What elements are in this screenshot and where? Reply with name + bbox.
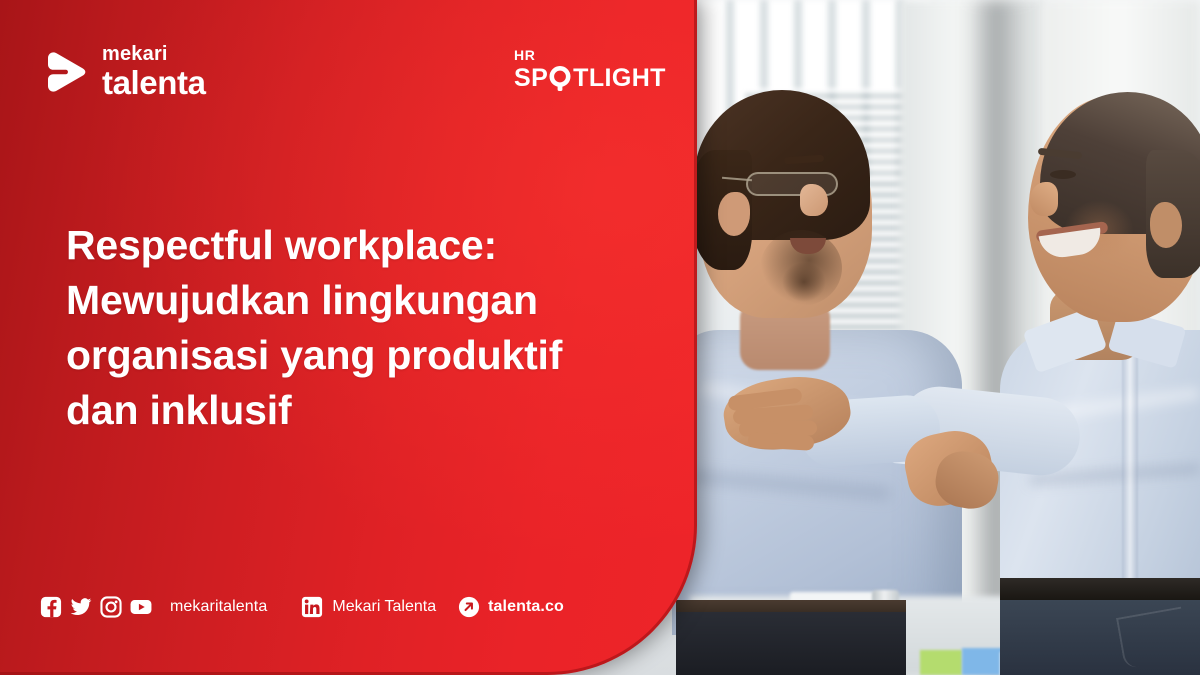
right-man-eye <box>1050 170 1076 179</box>
page-title: Respectful workplace: Mewujudkan lingkun… <box>66 218 636 438</box>
hr-spotlight-kicker: HR <box>514 48 535 62</box>
linkedin-icon[interactable] <box>301 596 323 618</box>
mekari-chevron-icon <box>44 49 88 95</box>
left-man-trousers <box>676 612 906 675</box>
spotlight-text-after: TLIGHT <box>573 66 666 91</box>
facebook-icon[interactable] <box>40 596 62 618</box>
website-url: talenta.co <box>488 598 564 616</box>
website-group[interactable]: talenta.co <box>458 596 564 618</box>
linkedin-group[interactable]: Mekari Talenta <box>301 596 436 618</box>
left-man-chin <box>782 262 826 302</box>
right-man-nose <box>1030 182 1058 216</box>
banner-canvas: mekari talenta HR SP TLIGHT Respectful w… <box>0 0 1200 675</box>
footer-bar: mekaritalenta Mekari Talenta talenta.co <box>40 596 564 618</box>
left-man-nose <box>800 184 828 216</box>
sticky-note <box>920 650 962 675</box>
arrow-up-right-circle-icon[interactable] <box>458 596 480 618</box>
magnifier-o-icon <box>549 66 572 91</box>
left-man-ear <box>718 192 750 236</box>
brand-name-bottom: talenta <box>102 66 206 99</box>
social-handle: mekaritalenta <box>170 598 267 616</box>
mekari-talenta-wordmark: mekari talenta <box>102 44 206 99</box>
twitter-icon[interactable] <box>70 596 92 618</box>
mekari-talenta-logo[interactable]: mekari talenta <box>44 44 206 99</box>
instagram-icon[interactable] <box>100 596 122 618</box>
hr-spotlight-badge: HR SP TLIGHT <box>514 48 666 91</box>
spotlight-text-before: SP <box>514 66 548 91</box>
social-icon-group: mekaritalenta <box>40 596 267 618</box>
hr-spotlight-wordmark: SP TLIGHT <box>514 66 666 91</box>
youtube-icon[interactable] <box>130 596 152 618</box>
brand-name-top: mekari <box>102 44 206 64</box>
right-man-ear <box>1150 202 1182 248</box>
linkedin-name: Mekari Talenta <box>332 598 436 616</box>
